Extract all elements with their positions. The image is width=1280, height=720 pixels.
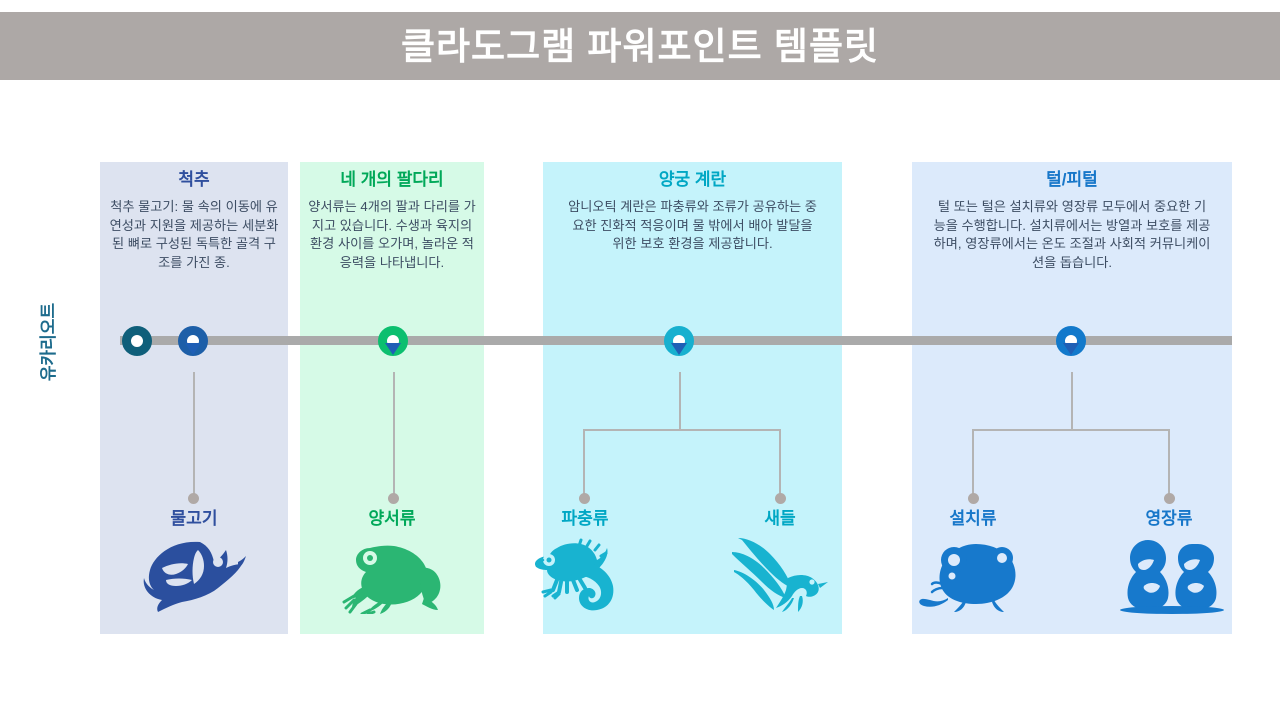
panel-body-text: 척추 물고기: 물 속의 이동에 유연성과 지원을 제공하는 세분화된 뼈로 구… [106, 198, 282, 273]
panel-heading: 척추 [100, 170, 288, 190]
leaf-dot-amphibian [388, 493, 399, 504]
bird-icon [730, 534, 830, 614]
connector-amniotic-stem [679, 372, 681, 430]
mouse-icon [918, 534, 1028, 614]
node-amniotic-egg[interactable] [664, 326, 694, 356]
node-four-limbs[interactable] [378, 326, 408, 356]
frog-icon [340, 534, 444, 614]
panel-heading: 털/피털 [912, 170, 1232, 190]
connector-bird-drop [779, 429, 781, 498]
panel-heading: 양궁 계란 [543, 170, 842, 190]
leaf-label-reptile: 파충류 [562, 504, 609, 529]
connector-primate-drop [1168, 429, 1170, 498]
leaf-label-rodent: 설치류 [950, 504, 997, 529]
connector-fur-stem [1071, 372, 1073, 430]
leaf-label-primate: 영장류 [1146, 504, 1193, 529]
panel-body-text: 털 또는 털은 설치류와 영장류 모두에서 중요한 기능을 수행합니다. 설치류… [932, 198, 1212, 273]
node-vertebrae[interactable] [178, 326, 208, 356]
page-title: 클라도그램 파워포인트 템플릿 [401, 28, 879, 65]
panel-heading: 네 개의 팔다리 [300, 170, 484, 190]
leaf-label-bird: 새들 [764, 504, 795, 529]
connector-amphibian-stem [393, 372, 395, 498]
root-node[interactable] [122, 326, 152, 356]
gorilla-icon [1114, 534, 1224, 614]
leaf-dot-rodent [968, 493, 979, 504]
leaf-label-fish: 물고기 [171, 504, 218, 529]
connector-vertebrae-stem [193, 372, 195, 498]
connector-rodent-drop [972, 429, 974, 498]
fish-icon [142, 534, 246, 612]
node-fur-hair[interactable] [1056, 326, 1086, 356]
leaf-dot-primate [1164, 493, 1175, 504]
leaf-dot-fish [188, 493, 199, 504]
connector-reptile-drop [583, 429, 585, 498]
chameleon-icon [533, 534, 637, 614]
title-bar: 클라도그램 파워포인트 템플릿 [0, 12, 1280, 80]
leaf-dot-bird [775, 493, 786, 504]
connector-fur-crossbar [972, 429, 1170, 431]
cladogram-slide: 클라도그램 파워포인트 템플릿 유카리오트 척추 척추 물고기: 물 속의 이동… [0, 0, 1280, 720]
axis-label-eukaryote: 유카리오트 [34, 272, 58, 412]
connector-amniotic-crossbar [583, 429, 781, 431]
panel-body-text: 양서류는 4개의 팔과 다리를 가지고 있습니다. 수생과 육지의 환경 사이를… [306, 198, 478, 273]
panel-body-text: 암니오틱 계란은 파충류와 조류가 공유하는 중요한 진화적 적응이며 물 밖에… [567, 198, 818, 254]
leaf-label-amphibian: 양서류 [369, 504, 416, 529]
leaf-dot-reptile [579, 493, 590, 504]
